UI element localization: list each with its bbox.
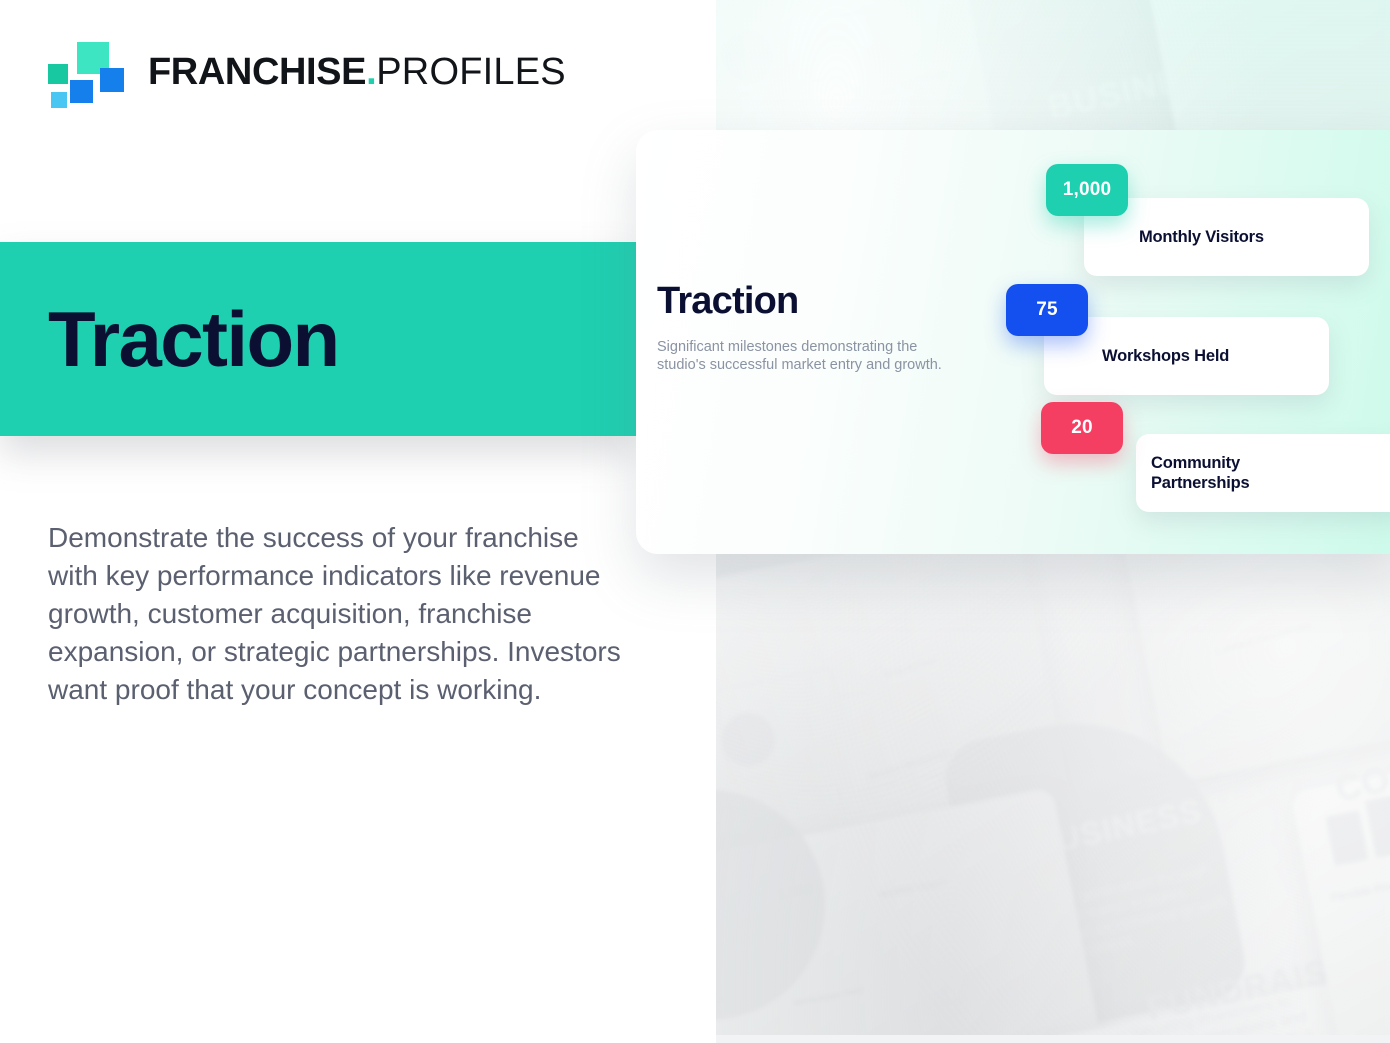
brand-wordmark: FRANCHISE.PROFILES [130, 53, 566, 91]
card-title: Traction [657, 282, 977, 320]
metric-value-badge: 20 [1041, 402, 1123, 454]
watermark-text: Drop-In Fees [882, 655, 938, 681]
section-banner: Traction [0, 242, 637, 436]
metric-row: Workshops Held 75 [1006, 279, 1390, 399]
section-description: Demonstrate the success of your franchis… [48, 519, 628, 709]
watermark-text: Workshops Held [793, 985, 864, 1008]
brand-logo[interactable]: FRANCHISE.PROFILES [48, 40, 566, 104]
section-title: Traction [48, 300, 339, 378]
watermark-text: Session Workshops [867, 747, 952, 782]
logo-squares-icon [48, 40, 112, 104]
brand-name-thin: PROFILES [376, 51, 566, 93]
metric-label: Workshops Held [1102, 346, 1229, 366]
metric-label: Community Partnerships [1151, 453, 1249, 493]
card-text-block: Traction Significant milestones demonstr… [657, 282, 977, 374]
metric-value-badge: 1,000 [1046, 164, 1128, 216]
brand-name-dot: . [366, 51, 376, 93]
watermark-text: Session Workshops [864, 67, 949, 102]
metric-value: 1,000 [1063, 179, 1112, 201]
traction-preview-card: Traction Significant milestones demonstr… [636, 130, 1390, 554]
metrics-list: Monthly Visitors 1,000 Workshops Held 75… [1006, 160, 1390, 517]
metric-value: 20 [1071, 417, 1093, 439]
brand-name-bold: FRANCHISE [148, 51, 366, 93]
watermark-text: Limited Resources [1214, 619, 1312, 658]
metric-card: Monthly Visitors [1084, 198, 1369, 276]
watermark-text: Monthly Visitors [878, 877, 948, 900]
metric-value: 75 [1036, 299, 1058, 321]
watermark-text: COM [1332, 752, 1390, 811]
metric-card: Community Partnerships [1136, 434, 1390, 512]
watermark-text: Flexible Pricing [1330, 877, 1390, 905]
metric-label: Monthly Visitors [1139, 227, 1264, 247]
card-subtitle: Significant milestones demonstrating the… [657, 338, 957, 374]
left-content-column: FRANCHISE.PROFILES Traction Demonstrate … [0, 0, 716, 1043]
metric-row: Monthly Visitors 1,000 [1006, 160, 1390, 280]
slide-canvas: Drop-In Fees Session Workshops Commissio… [0, 0, 1390, 1043]
metric-row: Community Partnerships 20 [1006, 397, 1390, 517]
metric-value-badge: 75 [1006, 284, 1088, 336]
